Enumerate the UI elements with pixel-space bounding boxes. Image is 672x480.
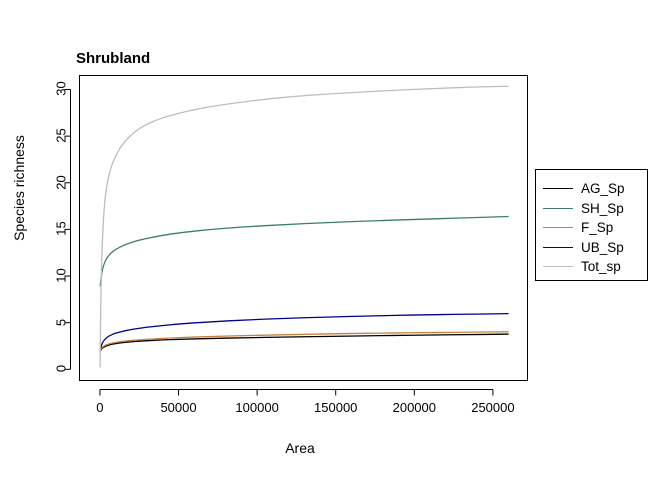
x-tick-label: 0 (96, 400, 103, 415)
legend-label: SH_Sp (581, 201, 624, 216)
x-tick-label: 50000 (160, 400, 196, 415)
legend-label: UB_Sp (581, 240, 624, 255)
x-axis-title: Area (0, 440, 600, 456)
y-tick-label: 10 (53, 263, 68, 289)
y-tick-label: 15 (53, 216, 68, 242)
x-tick-label: 150000 (314, 400, 357, 415)
y-tick-label: 5 (53, 309, 68, 335)
x-tick-label: 200000 (393, 400, 436, 415)
x-tick-label: 250000 (471, 400, 514, 415)
legend-item-sh_sp[interactable]: SH_Sp (543, 198, 624, 219)
axis-ticks (65, 89, 493, 395)
legend-item-ub_sp[interactable]: UB_Sp (543, 237, 624, 258)
series-line-ag_sp (100, 334, 508, 351)
y-tick-label: 25 (53, 123, 68, 149)
series-line-sh_sp (100, 217, 508, 287)
legend-item-ag_sp[interactable]: AG_Sp (543, 178, 625, 199)
y-tick-label: 20 (53, 169, 68, 195)
legend-swatch-f_sp-icon (543, 227, 573, 228)
legend-label: F_Sp (581, 220, 613, 235)
legend-swatch-ag_sp-icon (543, 188, 573, 189)
legend-item-tot_sp[interactable]: Tot_sp (543, 256, 621, 277)
y-tick-label: 0 (53, 356, 68, 382)
y-axis-title: Species richness (11, 123, 27, 253)
x-tick-label: 100000 (235, 400, 278, 415)
chart-legend: AG_SpSH_SpF_SpUB_SpTot_sp (535, 169, 648, 281)
legend-swatch-ub_sp-icon (543, 247, 573, 248)
legend-swatch-sh_sp-icon (543, 208, 573, 209)
chart-canvas: Shrubland 050000100000150000200000250000… (0, 0, 672, 480)
y-tick-label: 30 (53, 76, 68, 102)
legend-item-f_sp[interactable]: F_Sp (543, 217, 613, 238)
legend-label: Tot_sp (581, 259, 621, 274)
data-series-layer (100, 86, 509, 367)
legend-label: AG_Sp (581, 181, 625, 196)
legend-swatch-tot_sp-icon (543, 266, 573, 267)
